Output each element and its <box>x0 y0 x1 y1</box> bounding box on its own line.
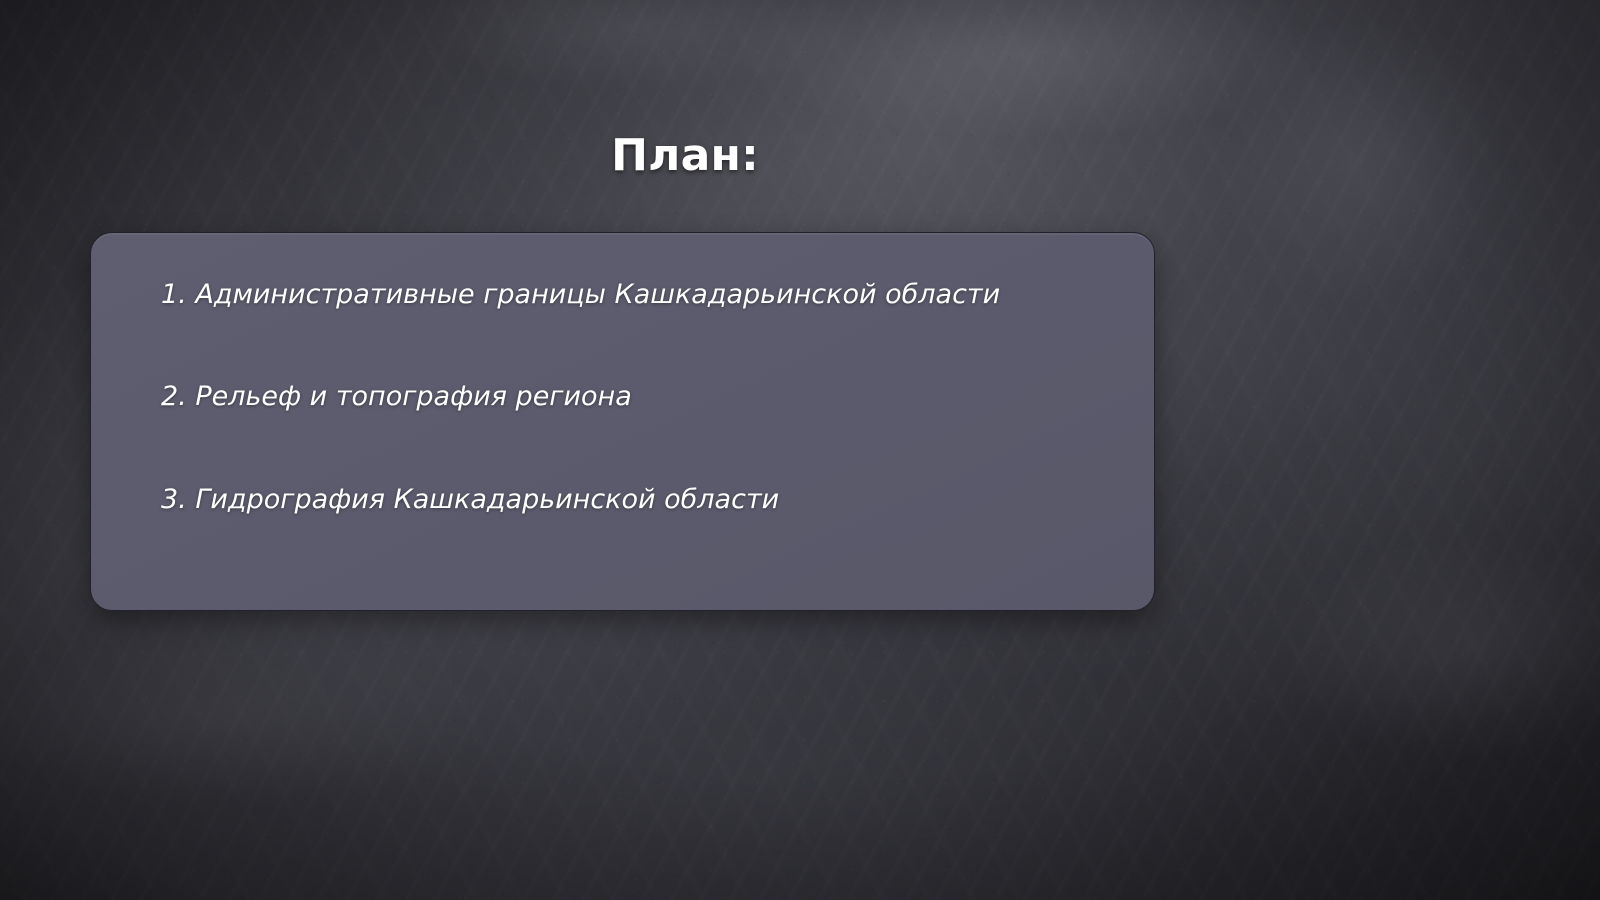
plan-list-item: 2. Рельеф и топография региона <box>161 381 1098 413</box>
slide-title: План: <box>0 132 1370 180</box>
plan-card: 1. Административные границы Кашкадарьинс… <box>90 232 1155 611</box>
plan-list-item: 1. Административные границы Кашкадарьинс… <box>161 279 1098 311</box>
plan-list: 1. Административные границы Кашкадарьинс… <box>161 279 1098 516</box>
presentation-slide: План: 1. Административные границы Кашкад… <box>0 0 1600 900</box>
slide-content: План: 1. Административные границы Кашкад… <box>0 0 1600 900</box>
plan-list-item: 3. Гидрография Кашкадарьинской области <box>161 484 1098 516</box>
